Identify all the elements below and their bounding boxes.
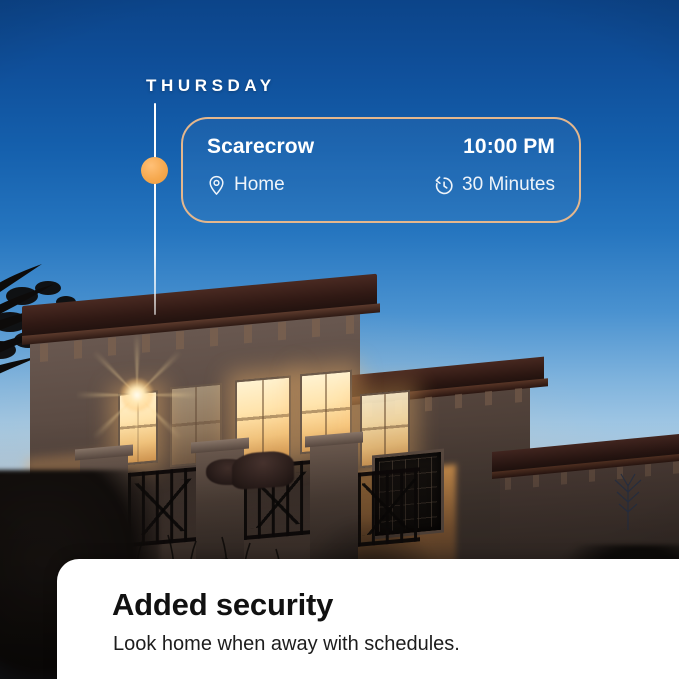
porch-light-icon [120, 378, 154, 412]
timeline-dot-icon [141, 157, 168, 184]
info-panel-title: Added security [112, 587, 333, 623]
day-label: THURSDAY [146, 76, 276, 96]
location-label: Home [234, 174, 285, 196]
schedule-card-primary-row: Scarecrow 10:00 PM [183, 131, 579, 163]
info-panel-subtitle: Look home when away with schedules. [113, 633, 460, 656]
timeline-track [154, 103, 156, 315]
schedule-card[interactable]: Scarecrow 10:00 PM Home [181, 117, 581, 223]
schedule-time: 10:00 PM [463, 135, 555, 159]
schedule-card-meta-row: Home 30 Minutes [183, 169, 579, 201]
info-panel: Added security Look home when away with … [57, 559, 679, 679]
history-clock-icon [433, 175, 454, 196]
schedule-location: Home [207, 174, 285, 196]
schedule-duration: 30 Minutes [433, 174, 555, 196]
balcony-planter [232, 450, 294, 490]
promo-screenshot: THURSDAY Scarecrow 10:00 PM Home [0, 0, 679, 679]
location-pin-icon [207, 175, 226, 196]
duration-label: 30 Minutes [462, 174, 555, 196]
rooftop-tree-icon [605, 470, 651, 530]
schedule-name: Scarecrow [207, 135, 314, 159]
